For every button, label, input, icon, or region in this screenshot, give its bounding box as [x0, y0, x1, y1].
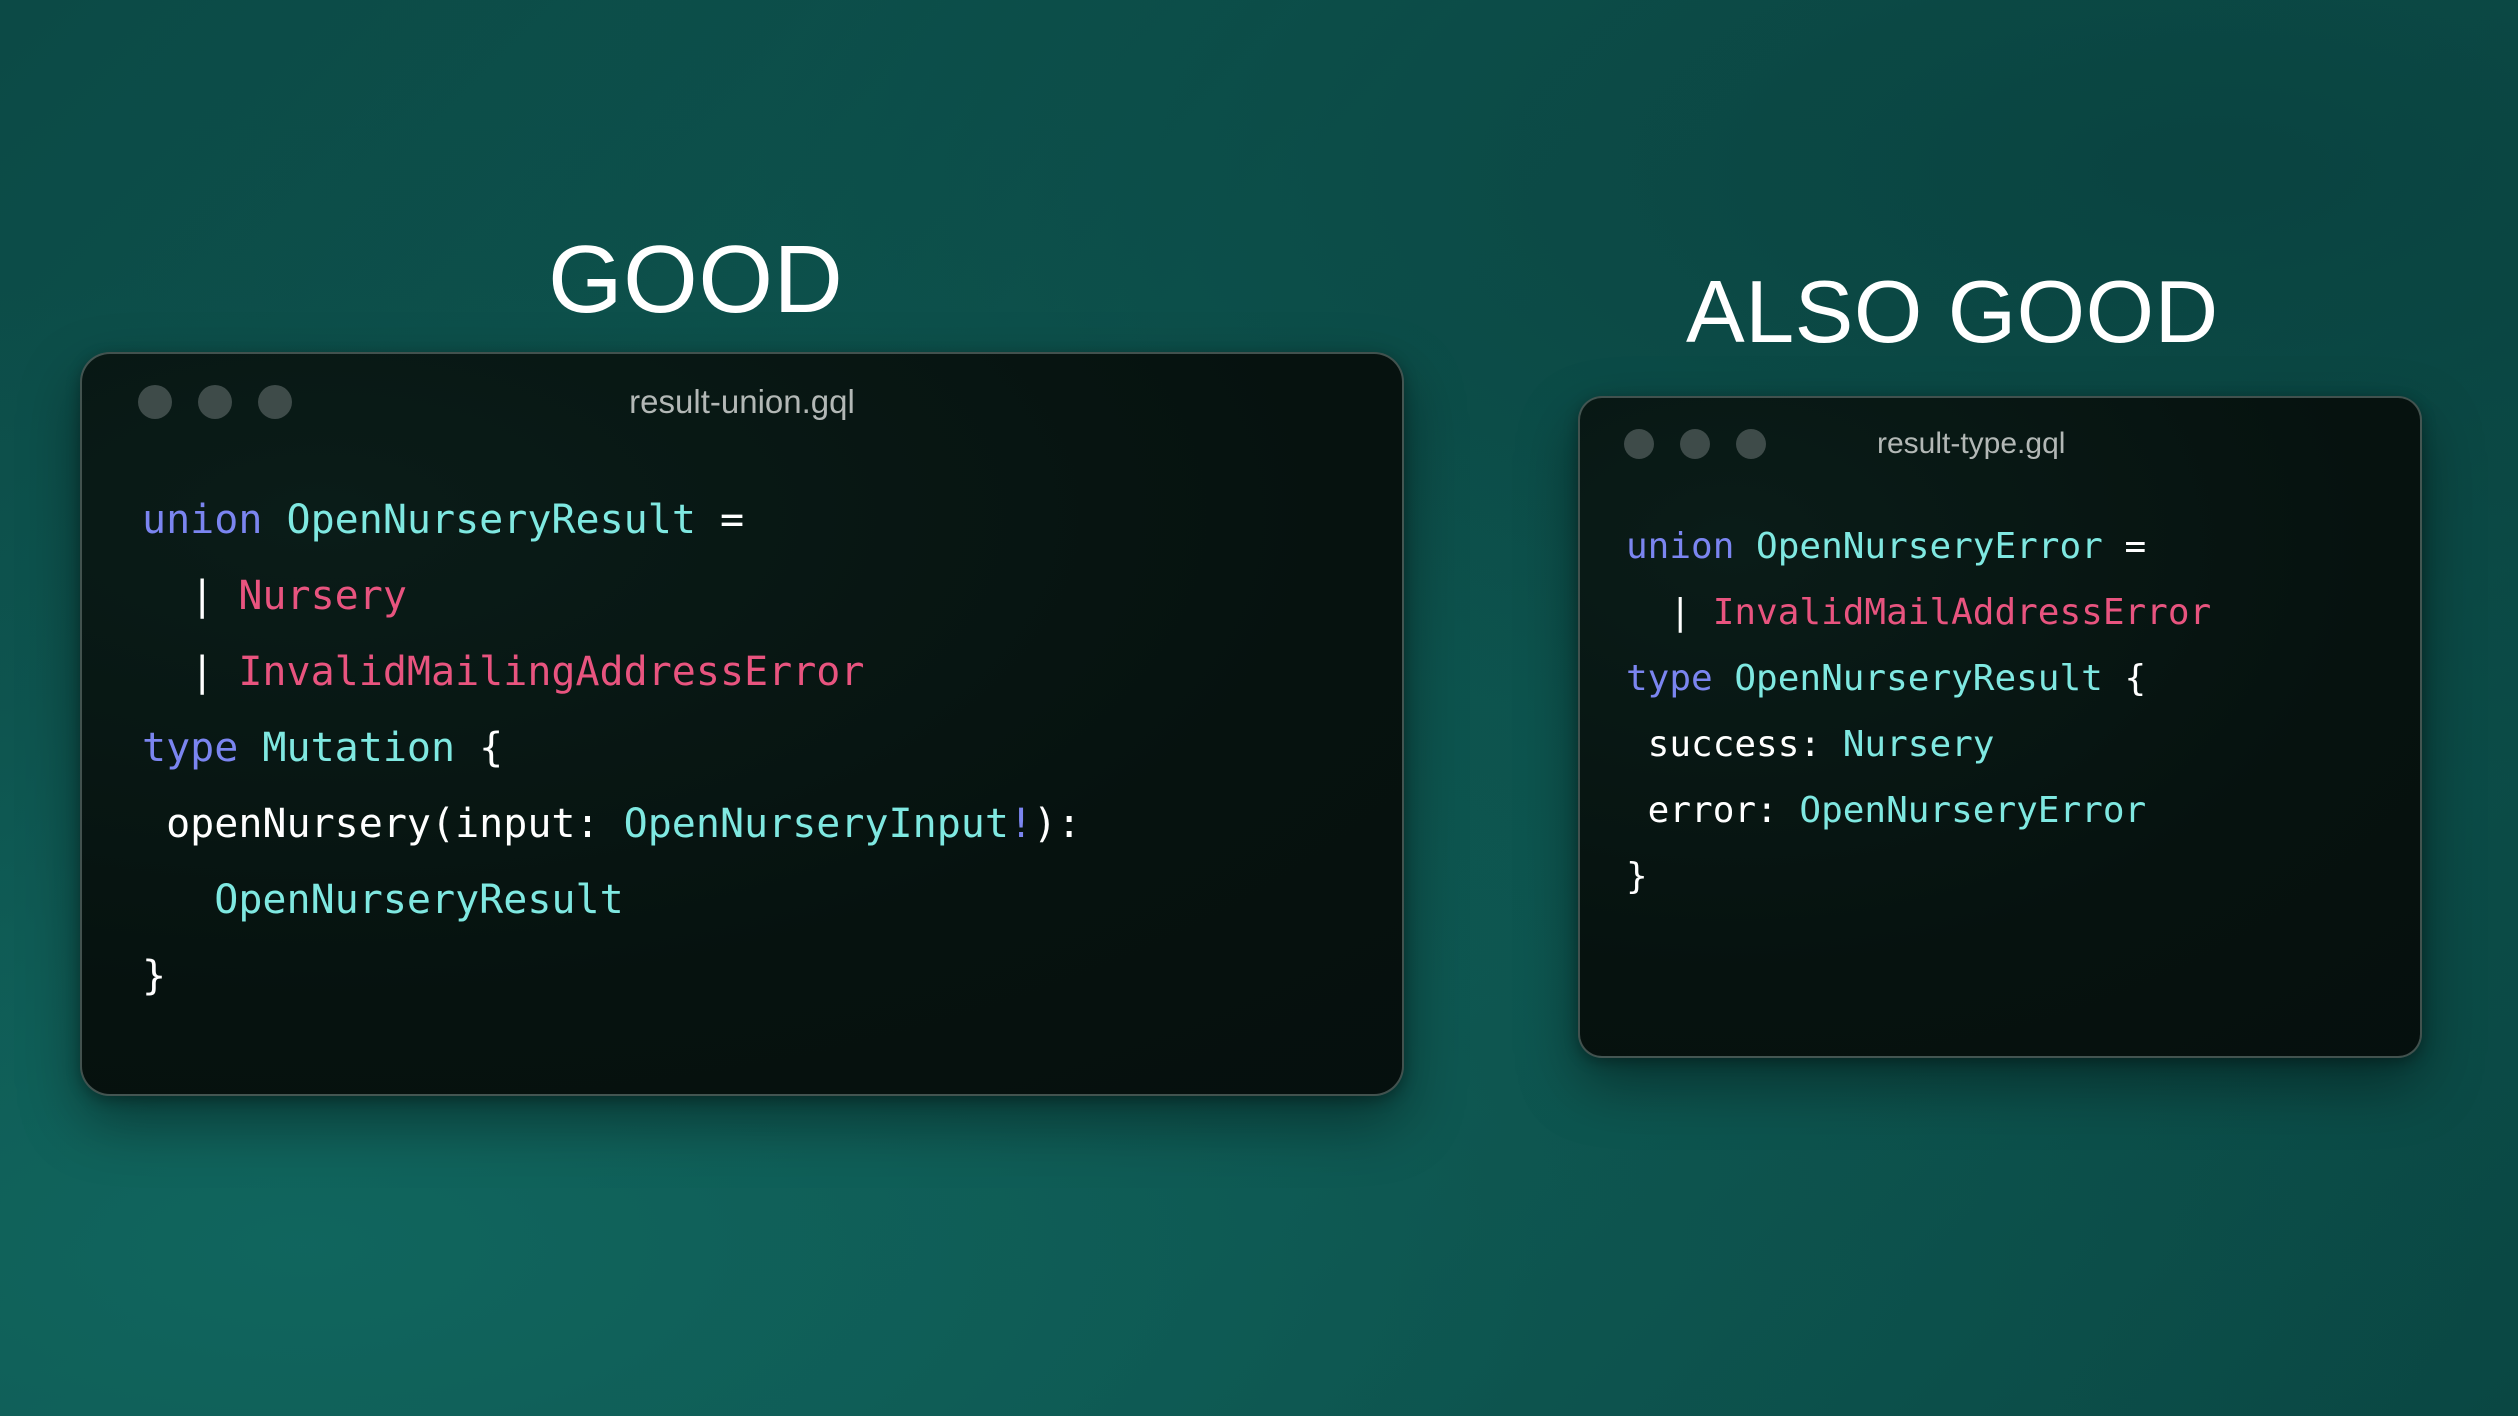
- code-token-plain: =: [2103, 526, 2146, 567]
- code-token-plain: =: [696, 497, 744, 543]
- code-token-type: OpenNurseryError: [1799, 790, 2146, 831]
- code-token-plain: |: [142, 649, 238, 695]
- code-line: | InvalidMailingAddressError: [142, 634, 1402, 710]
- code-token-plain: {: [455, 725, 503, 771]
- code-token-type: OpenNurseryResult: [1734, 658, 2102, 699]
- code-token-kw: union: [1626, 526, 1756, 567]
- code-token-err: Nursery: [238, 573, 407, 619]
- code-card-result-union: result-union.gql union OpenNurseryResult…: [80, 352, 1404, 1096]
- code-line: union OpenNurseryResult =: [142, 482, 1402, 558]
- slide-canvas: GOOD result-union.gql union OpenNurseryR…: [0, 0, 2518, 1416]
- code-token-plain: }: [142, 953, 166, 999]
- code-token-type: Mutation: [262, 725, 455, 771]
- code-card-result-type: result-type.gql union OpenNurseryError =…: [1578, 396, 2422, 1058]
- window-dot-maximize-icon[interactable]: [258, 385, 292, 419]
- code-line: }: [1626, 844, 2420, 910]
- code-token-plain: {: [2103, 658, 2146, 699]
- code-token-type: OpenNurseryResult: [287, 497, 696, 543]
- code-line: | Nursery: [142, 558, 1402, 634]
- code-block-result-union: union OpenNurseryResult = | Nursery | In…: [142, 482, 1402, 1014]
- code-token-plain: |: [142, 573, 238, 619]
- code-token-plain: ):: [1033, 801, 1081, 847]
- code-line: type Mutation {: [142, 710, 1402, 786]
- code-card-filename: result-type.gql: [1877, 427, 2065, 461]
- code-line: OpenNurseryResult: [142, 862, 1402, 938]
- code-line: | InvalidMailAddressError: [1626, 580, 2420, 646]
- window-dot-maximize-icon[interactable]: [1736, 429, 1766, 459]
- window-dot-close-icon[interactable]: [138, 385, 172, 419]
- code-token-type: Nursery: [1843, 724, 1995, 765]
- code-line: success: Nursery: [1626, 712, 2420, 778]
- code-token-err: InvalidMailAddressError: [1713, 592, 2212, 633]
- window-controls: [138, 385, 292, 419]
- code-card-titlebar: result-union.gql: [82, 354, 1402, 450]
- code-token-plain: error:: [1626, 790, 1799, 831]
- code-line: }: [142, 938, 1402, 1014]
- window-controls: [1624, 429, 1766, 459]
- code-card-filename: result-union.gql: [629, 383, 855, 421]
- window-dot-close-icon[interactable]: [1624, 429, 1654, 459]
- code-token-type: OpenNurseryInput: [624, 801, 1009, 847]
- code-token-kw: !: [1009, 801, 1033, 847]
- window-dot-minimize-icon[interactable]: [1680, 429, 1710, 459]
- code-token-kw: type: [142, 725, 262, 771]
- code-card-titlebar: result-type.gql: [1580, 398, 2420, 490]
- code-block-result-type: union OpenNurseryError = | InvalidMailAd…: [1626, 514, 2420, 910]
- window-dot-minimize-icon[interactable]: [198, 385, 232, 419]
- code-token-type: OpenNurseryError: [1756, 526, 2103, 567]
- code-token-plain: [142, 877, 214, 923]
- code-line: error: OpenNurseryError: [1626, 778, 2420, 844]
- code-token-err: InvalidMailingAddressError: [238, 649, 864, 695]
- code-token-plain: }: [1626, 856, 1648, 897]
- code-line: openNursery(input: OpenNurseryInput!):: [142, 786, 1402, 862]
- code-token-plain: |: [1626, 592, 1713, 633]
- panel-heading-good: GOOD: [548, 232, 843, 328]
- panel-heading-also-good: ALSO GOOD: [1686, 268, 2219, 356]
- code-line: type OpenNurseryResult {: [1626, 646, 2420, 712]
- code-token-plain: openNursery(input:: [142, 801, 624, 847]
- code-token-type: OpenNurseryResult: [214, 877, 623, 923]
- code-line: union OpenNurseryError =: [1626, 514, 2420, 580]
- code-token-kw: type: [1626, 658, 1734, 699]
- code-token-kw: union: [142, 497, 287, 543]
- code-token-plain: success:: [1626, 724, 1843, 765]
